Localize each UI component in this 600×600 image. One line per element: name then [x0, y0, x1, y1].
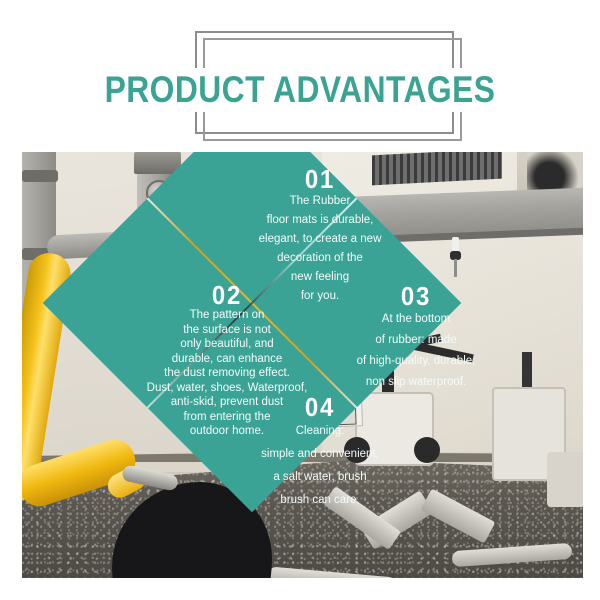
quadrant-01-number: 01: [228, 166, 412, 192]
quadrant-02-line-6: Dust, water, shoes, Waterproof,: [132, 381, 322, 396]
quadrant-02-number: 02: [140, 282, 315, 308]
quadrant-03-line-2: of rubber: made: [318, 330, 514, 351]
poster-page: PRODUCT ADVANTAGES: [0, 0, 600, 600]
page-title: PRODUCT ADVANTAGES: [42, 68, 558, 112]
quadrant-03: 03 At the bottom of rubber: made of high…: [318, 283, 514, 393]
quadrant-04-line-1: Cleaning:: [220, 420, 420, 443]
quadrant-01-line-4: decoration of the: [220, 249, 420, 268]
quadrant-04-text: Cleaning: simple and convenient, a salt …: [220, 420, 420, 512]
quadrant-02-line-4: durable, can enhance: [132, 352, 322, 367]
header-section: PRODUCT ADVANTAGES: [0, 0, 600, 152]
quadrant-03-number: 03: [326, 283, 506, 309]
quadrant-01-line-3: elegant, to create a new: [220, 230, 420, 249]
quadrant-02-line-5: the dust removing effect.: [132, 366, 322, 381]
quadrant-03-line-4: non slip waterproof.: [318, 372, 514, 393]
quadrant-04-line-4: brush can care.: [220, 489, 420, 512]
background-photo: 01 The Rubber floor mats is durable, ele…: [22, 152, 583, 578]
quadrant-03-line-1: At the bottom: [318, 309, 514, 330]
quadrant-04-line-2: simple and convenient,: [220, 443, 420, 466]
quadrant-02-line-1: The pattern on: [132, 308, 322, 323]
quadrant-03-text: At the bottom of rubber: made of high-qu…: [318, 309, 514, 393]
quadrant-04: 04 Cleaning: simple and convenient, a sa…: [220, 394, 420, 512]
quadrant-01-line-2: floor mats is durable,: [220, 211, 420, 230]
quadrant-04-number: 04: [228, 394, 412, 420]
diamond-overlay: 01 The Rubber floor mats is durable, ele…: [22, 152, 583, 578]
quadrant-04-line-3: a salt water, brush: [220, 466, 420, 489]
quadrant-02-line-2: the surface is not: [132, 323, 322, 338]
quadrant-03-line-3: of high-quality, durable,: [318, 351, 514, 372]
quadrant-01-line-1: The Rubber: [220, 192, 420, 211]
quadrant-02-line-3: only beautiful, and: [132, 337, 322, 352]
